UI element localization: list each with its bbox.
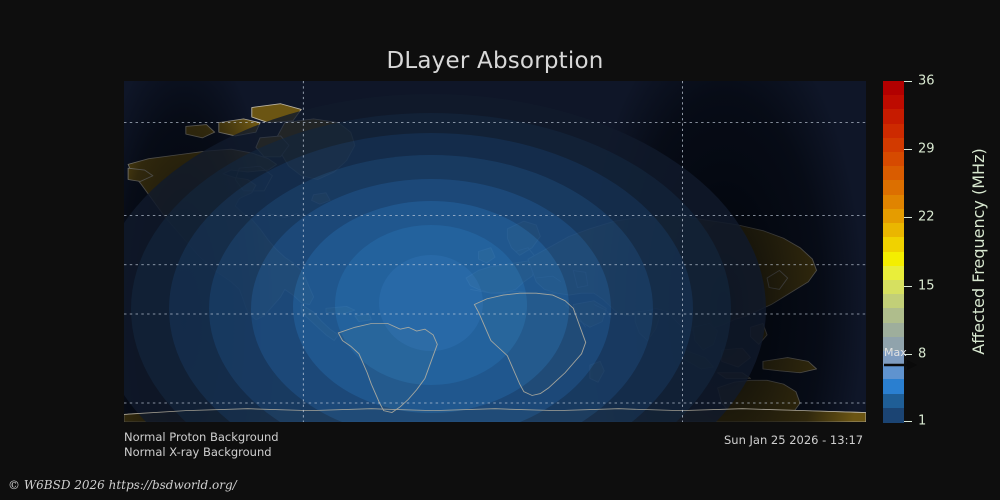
- world-map-panel[interactable]: [124, 81, 866, 422]
- colorbar-band: [883, 351, 904, 366]
- colorbar-band: [883, 379, 904, 394]
- colorbar-tick-label: 8: [918, 346, 926, 361]
- colorbar-band: [883, 124, 904, 139]
- colorbar-band: [883, 209, 904, 224]
- xray-status-text: Normal X-ray Background: [124, 445, 272, 459]
- colorbar-band: [883, 180, 904, 195]
- colorbar-tick-label: 29: [918, 142, 935, 157]
- colorbar-axis-label: Affected Frequency (MHz): [968, 81, 990, 422]
- colorbar-band: [883, 152, 904, 167]
- colorbar-band: [883, 308, 904, 323]
- colorbar-band: [883, 394, 904, 409]
- colorbar-band: [883, 280, 904, 295]
- timestamp-text: Sun Jan 25 2026 - 13:17: [724, 433, 863, 447]
- copyright-text: © W6BSD 2026 https://bsdworld.org/: [8, 478, 237, 492]
- coast-antarctica-top: [124, 409, 866, 415]
- colorbar-band: [883, 109, 904, 124]
- colorbar-ticks: 3629221581: [904, 81, 950, 422]
- colorbar-tick-mark: [904, 81, 912, 82]
- colorbar-band: [883, 237, 904, 252]
- coastline-top-layer: [124, 293, 866, 414]
- colorbar-gradient: [883, 81, 904, 422]
- colorbar-band: [883, 166, 904, 181]
- proton-status-text: Normal Proton Background: [124, 430, 279, 444]
- colorbar-band: [883, 95, 904, 110]
- coast-africa-top: [474, 293, 585, 395]
- colorbar-band: [883, 365, 904, 380]
- colorbar-band: [883, 138, 904, 153]
- colorbar-tick-mark: [904, 354, 912, 355]
- page-title: DLayer Absorption: [0, 48, 990, 74]
- colorbar-tick-mark: [904, 286, 912, 287]
- coast-south-america-top: [338, 323, 437, 412]
- colorbar-band: [883, 266, 904, 281]
- dlayer-absorption-screenshot: DLayer Absorption: [0, 0, 1000, 500]
- colorbar-band: [883, 252, 904, 267]
- colorbar-tick-label: 15: [918, 278, 935, 293]
- colorbar-band: [883, 337, 904, 352]
- colorbar[interactable]: 3629221581: [883, 81, 904, 422]
- colorbar-tick-mark: [904, 421, 912, 422]
- graticule-group: [124, 81, 866, 422]
- colorbar-band: [883, 294, 904, 309]
- colorbar-tick-label: 36: [918, 74, 935, 89]
- map-overlay-coast-and-grid: [124, 81, 866, 422]
- colorbar-tick-mark: [904, 217, 912, 218]
- colorbar-tick-label: 22: [918, 210, 935, 225]
- colorbar-band: [883, 323, 904, 338]
- colorbar-tick-mark: [904, 149, 912, 150]
- colorbar-band: [883, 81, 904, 96]
- colorbar-tick-label: 1: [918, 414, 926, 429]
- colorbar-band: [883, 223, 904, 238]
- colorbar-band: [883, 408, 904, 423]
- colorbar-band: [883, 195, 904, 210]
